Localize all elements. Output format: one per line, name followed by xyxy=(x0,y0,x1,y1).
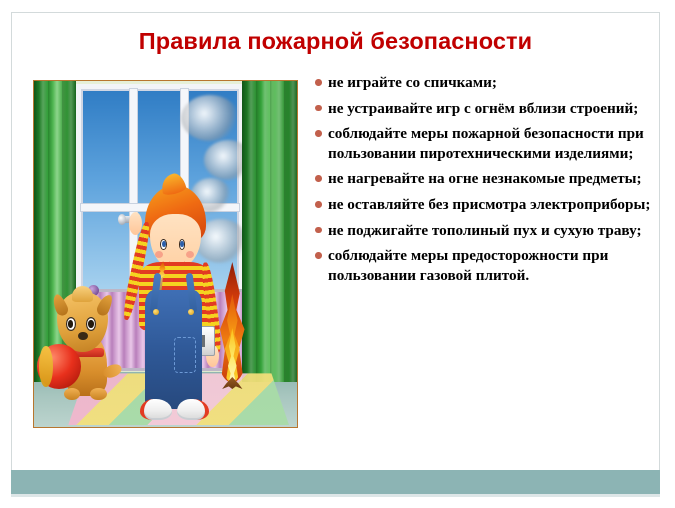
puppy-paw-right xyxy=(90,388,106,400)
boy-eye-left xyxy=(160,239,167,250)
list-item-label: не оставляйте без присмотра электроприбо… xyxy=(328,196,650,213)
bullet-dot-icon xyxy=(315,175,322,182)
puppy-nose xyxy=(78,332,88,340)
bullet-dot-icon xyxy=(315,201,322,208)
bullet-dot-icon xyxy=(315,227,322,234)
boy-cheek-right xyxy=(186,251,194,258)
list-item: не устраивайте игр с огнём вблизи строен… xyxy=(313,99,661,118)
list-item: не играйте со спичками; xyxy=(313,73,661,92)
bullet-dot-icon xyxy=(315,105,322,112)
boy-shoe-right xyxy=(177,399,209,420)
boy-face xyxy=(150,214,201,269)
puppy-eye-left xyxy=(66,317,76,330)
overall-button-left xyxy=(153,309,159,315)
footer-bar xyxy=(11,470,660,494)
puppy-eye-right xyxy=(86,317,96,330)
bullet-dot-icon xyxy=(315,130,322,137)
page-title: Правила пожарной безопасности xyxy=(11,28,660,54)
overall-button-right xyxy=(188,309,194,315)
boy-shoe-left xyxy=(140,399,172,420)
list-item-label: не играйте со спичками; xyxy=(328,74,497,91)
list-item-label: не нагревайте на огне незнакомые предмет… xyxy=(328,170,642,187)
footer-bar-shadow xyxy=(11,494,660,497)
boy-eye-right xyxy=(179,239,186,250)
bullet-dot-icon xyxy=(315,252,322,259)
list-item-label: не устраивайте игр с огнём вблизи строен… xyxy=(328,100,638,117)
boy-cheek-left xyxy=(155,251,163,258)
boy-figure xyxy=(134,185,216,413)
list-item-label: соблюдайте меры пожарной безопасности пр… xyxy=(328,125,644,161)
bullet-dot-icon xyxy=(315,79,322,86)
boy-hand-raised xyxy=(129,212,142,235)
smoke-icon xyxy=(181,95,239,141)
list-item: не нагревайте на огне незнакомые предмет… xyxy=(313,169,661,188)
ball-toy xyxy=(37,344,82,389)
list-item: соблюдайте меры пожарной безопасности пр… xyxy=(313,124,661,162)
list-item-label: не поджигайте тополиный пух и сухую трав… xyxy=(328,222,642,239)
list-item-label: соблюдайте меры предосторожности при пол… xyxy=(328,247,608,283)
slide: Правила пожарной безопасности xyxy=(0,0,675,508)
puppy-head-tuft xyxy=(72,286,93,302)
list-item: не оставляйте без присмотра электроприбо… xyxy=(313,195,661,214)
puppy-ear-left xyxy=(51,293,71,318)
puppy-paw-left xyxy=(64,388,80,400)
safety-rules-list: не играйте со спичками; не устраивайте и… xyxy=(313,73,661,291)
boy-overalls xyxy=(145,290,202,409)
illustration-stage xyxy=(34,81,297,427)
fire-safety-illustration xyxy=(33,80,298,428)
list-item: соблюдайте меры предосторожности при пол… xyxy=(313,246,661,284)
list-item: не поджигайте тополиный пух и сухую трав… xyxy=(313,221,661,240)
overall-pocket xyxy=(174,337,195,372)
puppy-ear-right xyxy=(95,293,115,318)
